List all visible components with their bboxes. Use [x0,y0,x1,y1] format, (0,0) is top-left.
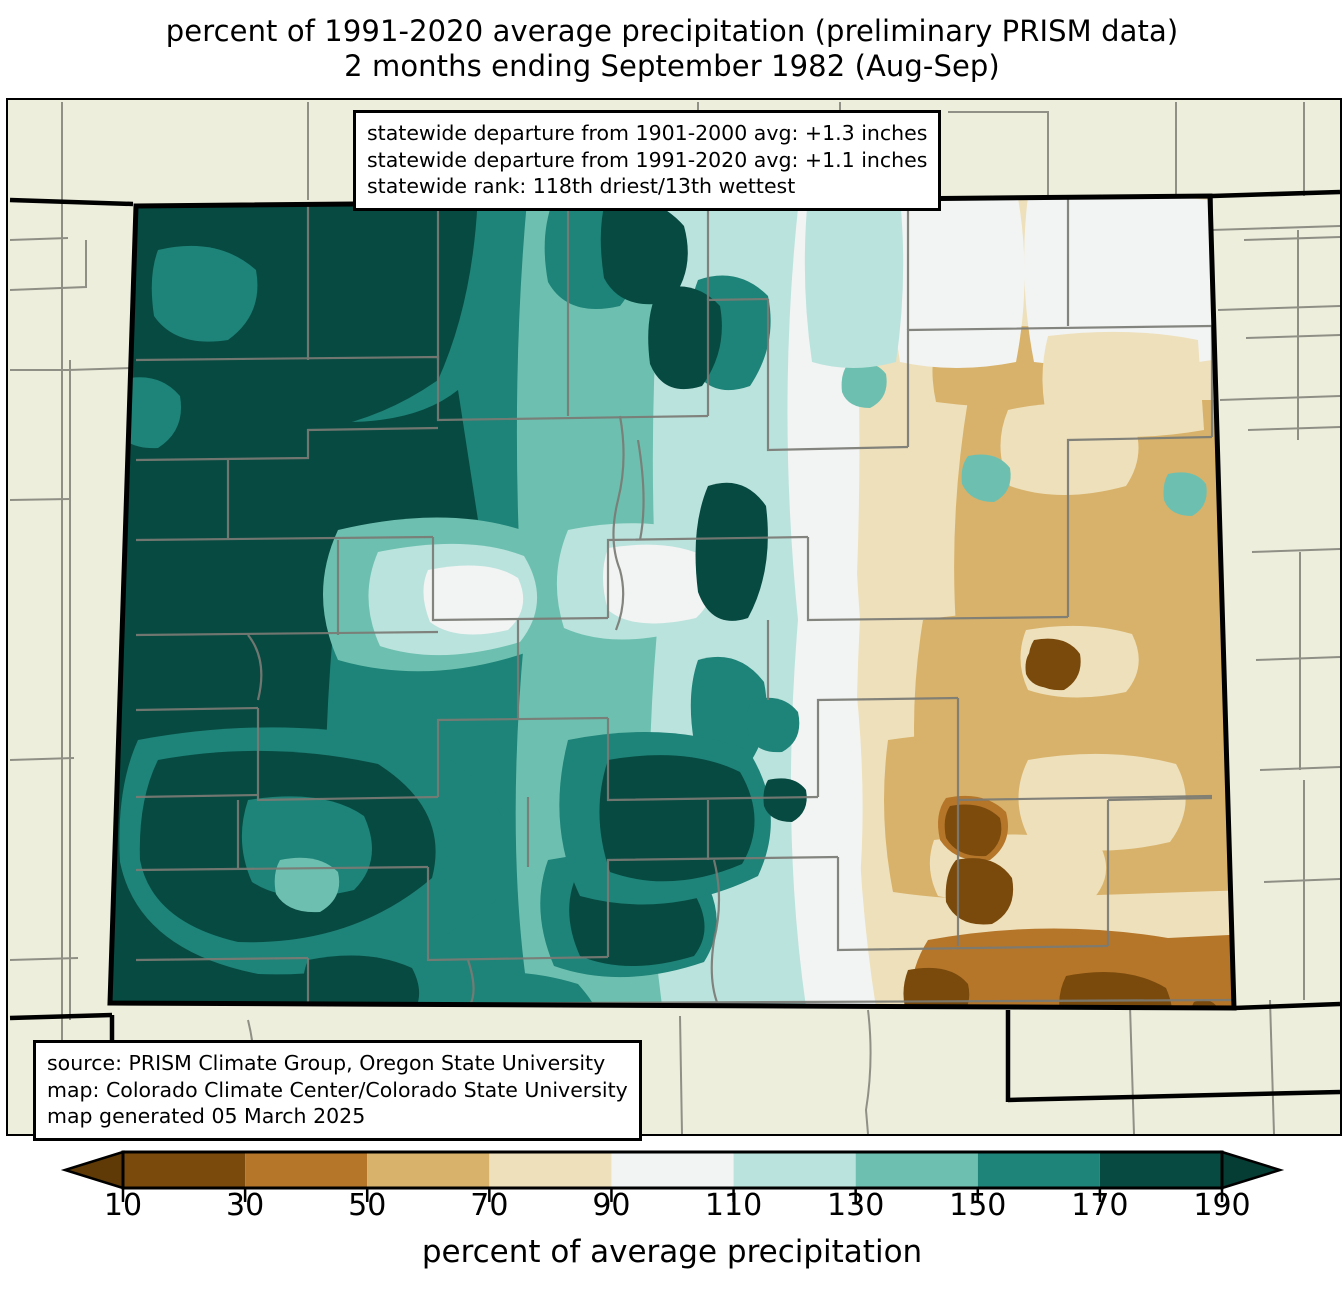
colorbar-tick-label-30: 30 [226,1188,264,1223]
stat-departure-1991: statewide departure from 1991-2020 avg: … [367,147,927,174]
source-generated-date: map generated 05 March 2025 [47,1103,628,1130]
colorbar-band-2[interactable] [367,1152,489,1188]
title-line-1: percent of 1991-2020 average precipitati… [0,14,1344,49]
colorbar-band-5[interactable] [734,1152,856,1188]
colorbar-tick-label-190: 190 [1193,1188,1250,1223]
colorbar-over-cap [1222,1152,1280,1188]
colorbar-tick-label-70: 70 [470,1188,508,1223]
colorbar-tick-label-110: 110 [705,1188,762,1223]
colorbar-band-1[interactable] [245,1152,367,1188]
colorbar[interactable]: 1030507090110130150170190 percent of ave… [0,1144,1344,1299]
title-line-2: 2 months ending September 1982 (Aug-Sep) [0,49,1344,84]
colorbar-tick-label-50: 50 [348,1188,386,1223]
stat-departure-1901: statewide departure from 1901-2000 avg: … [367,120,927,147]
colorbar-tick-label-130: 130 [827,1188,884,1223]
colorbar-tick-label-150: 150 [949,1188,1006,1223]
colorbar-tick-label-90: 90 [592,1188,630,1223]
statistics-box: statewide departure from 1901-2000 avg: … [353,110,941,211]
source-prism: source: PRISM Climate Group, Oregon Stat… [47,1050,628,1077]
colorbar-band-3[interactable] [489,1152,611,1188]
map-panel[interactable] [6,98,1342,1136]
source-map-author: map: Colorado Climate Center/Colorado St… [47,1077,628,1104]
colorbar-under-cap [65,1152,123,1188]
colorbar-axis-label: percent of average precipitation [0,1234,1344,1270]
colorbar-band-8[interactable] [1100,1152,1222,1188]
colorbar-band-7[interactable] [978,1152,1100,1188]
colorbar-tick-label-10: 10 [104,1188,142,1223]
colorbar-tick-labels: 1030507090110130150170190 [0,1188,1344,1228]
precipitation-contours [98,190,1248,1060]
source-box: source: PRISM Climate Group, Oregon Stat… [33,1040,642,1141]
page-title: percent of 1991-2020 average precipitati… [0,14,1344,85]
colorbar-tick-label-170: 170 [1071,1188,1128,1223]
colorbar-band-6[interactable] [856,1152,978,1188]
colorbar-band-4[interactable] [611,1152,733,1188]
precipitation-choropleth-map[interactable] [8,100,1340,1134]
colorbar-band-0[interactable] [123,1152,245,1188]
stat-rank: statewide rank: 118th driest/13th wettes… [367,173,927,200]
